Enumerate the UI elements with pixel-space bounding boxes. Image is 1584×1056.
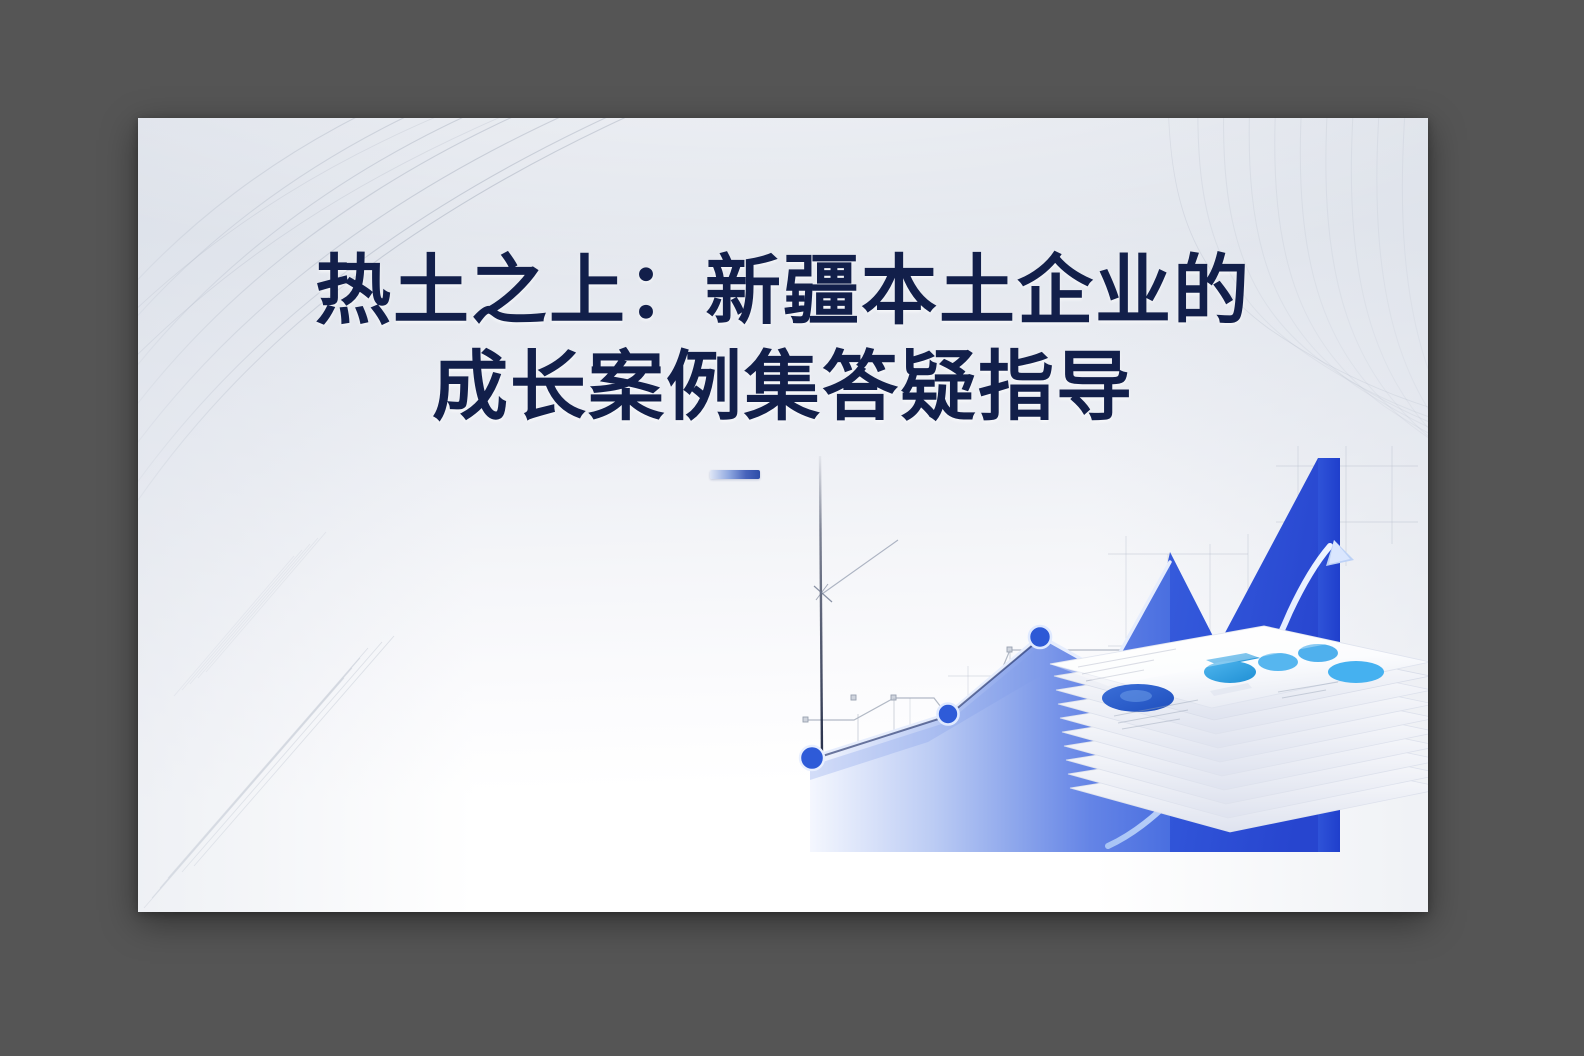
presentation-slide: 热土之上：新疆本土企业的 成长案例集答疑指导 bbox=[138, 118, 1428, 912]
title-accent-bar bbox=[710, 470, 760, 479]
growth-chart-graphic bbox=[778, 436, 1428, 912]
title-line-1: 热土之上：新疆本土企业的 bbox=[138, 244, 1428, 340]
hatch-group-left bbox=[144, 636, 394, 908]
page-title: 热土之上：新疆本土企业的 成长案例集答疑指导 bbox=[138, 244, 1428, 436]
growth-illustration bbox=[778, 436, 1428, 912]
chart-axis bbox=[814, 456, 898, 758]
hatch-group-left-2 bbox=[174, 532, 326, 696]
screenshot-stage: 热土之上：新疆本土企业的 成长案例集答疑指导 bbox=[0, 0, 1584, 1056]
title-line-2: 成长案例集答疑指导 bbox=[138, 340, 1428, 436]
